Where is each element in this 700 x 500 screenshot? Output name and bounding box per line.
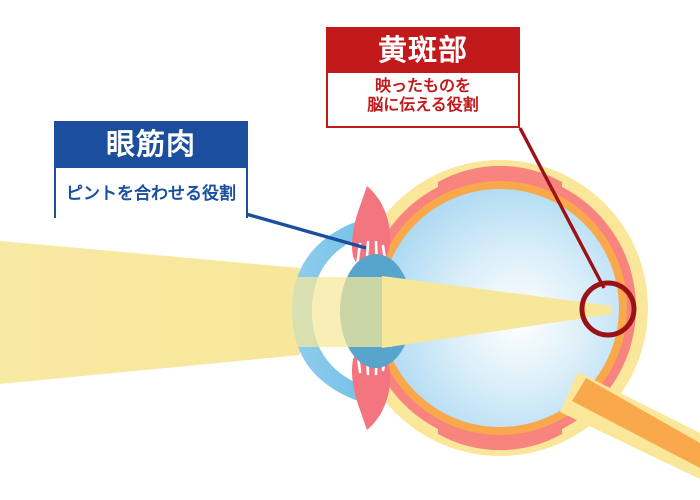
callout-macula-description: 映ったものを 脳に伝える役割 bbox=[328, 73, 518, 126]
incoming-light-beam bbox=[0, 241, 300, 384]
callout-macula-line-1: 映ったものを bbox=[328, 78, 518, 97]
callout-eye-muscle: 眼筋肉 ピントを合わせる役割 bbox=[54, 121, 248, 218]
callout-macula: 黄斑部 映ったものを 脳に伝える役割 bbox=[326, 27, 520, 128]
callout-eye-muscle-description: ピントを合わせる役割 bbox=[56, 168, 246, 218]
callout-macula-title: 黄斑部 bbox=[328, 29, 518, 73]
callout-eye-muscle-title: 眼筋肉 bbox=[56, 123, 246, 168]
callout-eye-muscle-line-1: ピントを合わせる役割 bbox=[56, 170, 246, 218]
eye-diagram-figure: 眼筋肉 ピントを合わせる役割 黄斑部 映ったものを 脳に伝える役割 bbox=[0, 0, 700, 500]
callout-macula-line-2: 脳に伝える役割 bbox=[328, 97, 518, 116]
